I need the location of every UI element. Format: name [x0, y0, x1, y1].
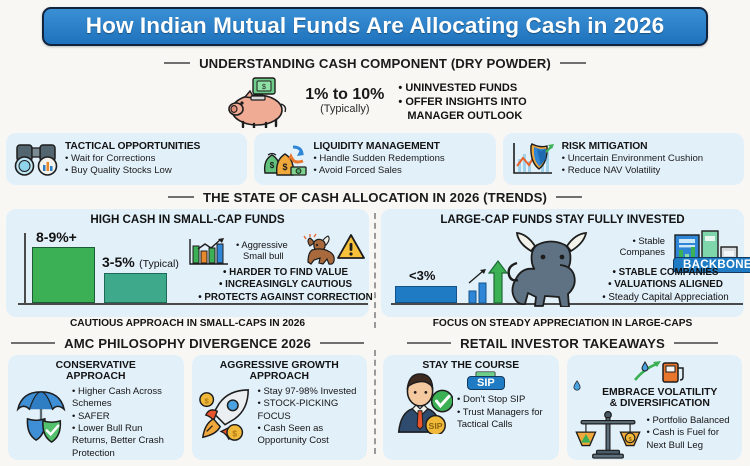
bar-high-cash	[32, 247, 95, 303]
retail-cards: STAY THE COURSE	[381, 355, 744, 460]
feature-bullets-0: Wait for Corrections Buy Quality Stocks …	[65, 153, 200, 177]
svg-text:$: $	[283, 162, 288, 172]
small-cap-bullet-0: • HARDER TO FIND VALUE	[198, 267, 373, 280]
large-cap-bullet-2: • Steady Capital Appreciation	[583, 292, 748, 305]
small-cap-bullet-2: • PROTECTS AGAINST CORRECTION	[198, 292, 373, 305]
section3-title: AMC PHILOSOPHY DIVERGENCE 2026	[64, 336, 311, 351]
feature-card-risk-mitigation[interactable]: RISK MITIGATION Uncertain Environment Cu…	[503, 133, 744, 185]
percent-range: 1% to 10%	[305, 87, 384, 104]
large-cap-note-text-0: Stable	[638, 235, 665, 246]
card-body: Higher Cash Across Schemes SAFER Lower B…	[14, 386, 178, 460]
card-bullets-aggressive: Stay 97-98% Invested STOCK-PICKING FOCUS…	[258, 386, 362, 448]
large-cap-note-line-0: • Stable	[599, 235, 665, 247]
svg-text:$: $	[270, 161, 275, 170]
feature-cards-row: TACTICAL OPPORTUNITIES Wait for Correcti…	[0, 131, 750, 185]
large-cap-bullets: • STABLE COMPANIES • VALUATIONS ALIGNED …	[583, 267, 748, 305]
card-title-line2: APPROACH	[66, 371, 125, 382]
small-cap-bullet-text-1: INCREASINGLY CAUTIOUS	[225, 279, 352, 290]
bar-chart-up-icon	[188, 237, 232, 267]
card-title-line1: AGGRESSIVE GROWTH	[220, 360, 339, 371]
feature-text: LIQUIDITY MANAGEMENT Handle Sudden Redem…	[313, 141, 444, 177]
bullet-1: Trust Managers for Tactical Calls	[457, 407, 553, 432]
card-title-line2: & DIVERSIFICATION	[610, 398, 710, 409]
section-heading-retail: RETAIL INVESTOR TAKEAWAYS	[381, 336, 744, 351]
umbrella-shield-icon	[14, 386, 68, 460]
large-cap-bullet-1: • VALUATIONS ALIGNED	[583, 279, 748, 292]
bar-typical-cash	[104, 273, 167, 303]
card-bullets-stay-course: Don’t Stop SIP Trust Managers for Tactic…	[457, 394, 553, 431]
feature-bullet-2-1: Reduce NAV Volatility	[562, 165, 703, 177]
dry-bullet-text-0: UNINVESTED FUNDS	[405, 82, 517, 94]
large-cap-caption: FOCUS ON STEADY APPRECIATION IN LARGE-CA…	[381, 317, 744, 334]
bullet-1: SAFER	[72, 411, 178, 423]
feature-bullet-0-0: Wait for Corrections	[65, 153, 200, 165]
stay-course-right: SIP Don’t Stop SIP Trust Managers for Ta…	[457, 372, 553, 434]
section1-title: UNDERSTANDING CASH COMPONENT (DRY POWDER…	[199, 56, 551, 71]
card-bullets-volatility: Portfolio Balanced Cash is Fuel for Next…	[647, 411, 737, 459]
small-cap-bullet-text-2: PROTECTS AGAINST CORRECTION	[204, 292, 372, 303]
retail-takeaways-section: RETAIL INVESTOR TAKEAWAYS STAY THE COURS…	[381, 334, 744, 460]
bar-label-typical-value: 3-5%	[102, 254, 135, 270]
sip-badge: SIP	[467, 376, 505, 390]
dry-bullet-1: • OFFER INSIGHTS INTO	[398, 95, 526, 109]
investor-person-icon: SIP	[389, 372, 453, 434]
amc-cards: CONSERVATIVE APPROACH	[6, 355, 369, 460]
bullet-2: Cash Seen as Opportunity Cost	[258, 423, 362, 448]
bullet-2: Lower Bull Run Returns, Better Crash Pro…	[72, 423, 178, 460]
large-cap-bullet-0: • STABLE COMPANIES	[583, 267, 748, 280]
dry-bullet-text-1: OFFER INSIGHTS INTO	[405, 96, 526, 108]
heading-rule-left	[164, 62, 190, 64]
bullet-0: Stay 97-98% Invested	[258, 386, 362, 398]
small-cap-bullet-text-0: HARDER TO FIND VALUE	[229, 267, 348, 278]
infographic-page: How Indian Mutual Funds Are Allocating C…	[0, 0, 750, 466]
feature-bullet-2-0: Uncertain Environment Cushion	[562, 153, 703, 165]
warning-triangle-icon	[336, 233, 366, 261]
large-cap-note-text-1: Companes	[620, 246, 665, 257]
dry-bullet-2: MANAGER OUTLOOK	[398, 109, 526, 123]
section-heading-amc: AMC PHILOSOPHY DIVERGENCE 2026	[6, 336, 369, 351]
volatility-header: EMBRACE VOLATILITY & DIVERSIFICATION	[573, 360, 737, 410]
small-cap-note-line-0: • Aggressive	[236, 239, 288, 251]
feature-bullet-0-1: Buy Quality Stocks Low	[65, 165, 200, 177]
feature-bullet-1-0: Handle Sudden Redemptions	[313, 153, 444, 165]
fuel-pump-icon	[633, 360, 687, 384]
vertical-divider	[374, 213, 376, 328]
card-conservative-approach[interactable]: CONSERVATIVE APPROACH	[8, 355, 184, 460]
bullet-1: Cash is Fuel for Next Bull Leg	[647, 427, 737, 452]
card-title-conservative: CONSERVATIVE APPROACH	[14, 360, 178, 383]
bar-label-typical-note: (Typical)	[139, 258, 179, 270]
card-body: $ Portfolio Balanced Cash is Fuel for Ne…	[573, 411, 737, 459]
svg-text:$: $	[204, 396, 209, 405]
svg-text:$: $	[232, 428, 237, 438]
card-embrace-volatility[interactable]: EMBRACE VOLATILITY & DIVERSIFICATION	[567, 355, 743, 460]
amc-philosophy-section: AMC PHILOSOPHY DIVERGENCE 2026 CONSERVAT…	[6, 334, 369, 460]
large-cap-title: LARGE-CAP FUNDS STAY FULLY INVESTED	[387, 213, 738, 226]
trends-row: HIGH CASH IN SMALL-CAP FUNDS 8-9%+ 3-5% …	[0, 209, 750, 334]
shield-chart-icon	[510, 139, 556, 179]
small-cap-title: HIGH CASH IN SMALL-CAP FUNDS	[12, 213, 363, 226]
dry-powder-bullets: • UNINVESTED FUNDS • OFFER INSIGHTS INTO…	[398, 81, 526, 123]
card-body: $ $ Stay 97-98% Invested STOCK-PICKING F…	[198, 386, 362, 448]
heading-rule-right	[320, 342, 364, 344]
card-title-aggressive: AGGRESSIVE GROWTH APPROACH	[198, 360, 362, 383]
card-title-line2: APPROACH	[250, 371, 309, 382]
page-title: How Indian Mutual Funds Are Allocating C…	[44, 14, 706, 38]
dry-powder-row: $ 1% to 10% (Typically) • UNINVESTED FUN…	[0, 75, 750, 131]
large-cap-bullet-text-1: VALUATIONS ALIGNED	[614, 279, 723, 290]
trend-panel-large-cap: LARGE-CAP FUNDS STAY FULLY INVESTED <3%	[381, 209, 744, 334]
feature-card-tactical-opportunities[interactable]: TACTICAL OPPORTUNITIES Wait for Correcti…	[6, 133, 247, 185]
piggy-bank-icon: $	[223, 76, 297, 128]
binoculars-icon	[13, 139, 59, 179]
feature-bullets-1: Handle Sudden Redemptions Avoid Forced S…	[313, 153, 444, 177]
small-cap-note-line-1: Small bull	[236, 250, 288, 262]
large-cap-bullet-text-0: STABLE COMPANIES	[619, 267, 719, 278]
bullet-1: STOCK-PICKING FOCUS	[258, 398, 362, 423]
bar-label-typical-cash: 3-5% (Typical)	[102, 254, 179, 272]
sip-badge-text: SIP	[477, 377, 495, 389]
bullet-0: Portfolio Balanced	[647, 415, 737, 427]
section-heading-trends: THE STATE OF CASH ALLOCATION IN 2026 (TR…	[0, 190, 750, 205]
feature-card-liquidity-management[interactable]: $ $ LIQUIDITY MANAGEMENT Handle Sudden R…	[254, 133, 495, 185]
bar-large-cap-cash	[395, 286, 457, 303]
feature-title-1: LIQUIDITY MANAGEMENT	[313, 141, 444, 152]
small-cap-bullets: • HARDER TO FIND VALUE • INCREASINGLY CA…	[198, 267, 373, 305]
card-bullets-conservative: Higher Cash Across Schemes SAFER Lower B…	[72, 386, 178, 460]
small-cap-chart: 8-9%+ 3-5% (Typical)	[12, 227, 363, 307]
balance-scale-icon: $	[573, 411, 643, 459]
bar-label-high-cash: 8-9%+	[36, 229, 77, 245]
feature-title-2: RISK MITIGATION	[562, 141, 703, 152]
title-area: How Indian Mutual Funds Are Allocating C…	[0, 0, 750, 50]
section-heading-dry-powder: UNDERSTANDING CASH COMPONENT (DRY POWDER…	[0, 56, 750, 71]
bullet-0: Higher Cash Across Schemes	[72, 386, 178, 411]
section2-title: THE STATE OF CASH ALLOCATION IN 2026 (TR…	[203, 190, 547, 205]
heading-rule-left	[168, 196, 194, 198]
rocket-coins-icon: $ $	[198, 386, 254, 448]
trend-panel-small-cap: HIGH CASH IN SMALL-CAP FUNDS 8-9%+ 3-5% …	[6, 209, 369, 334]
vertical-divider-bottom	[374, 350, 376, 454]
svg-text:SIP: SIP	[429, 421, 443, 431]
heading-rule-left	[11, 342, 55, 344]
feature-text: RISK MITIGATION Uncertain Environment Cu…	[562, 141, 703, 177]
svg-text:$: $	[262, 84, 266, 91]
water-drop-icon	[573, 360, 581, 391]
small-cap-note-text-0: Aggressive	[241, 239, 287, 250]
small-cap-note-text-1: Small bull	[243, 250, 284, 261]
card-title-line1: EMBRACE VOLATILITY	[602, 387, 717, 398]
heading-rule-right	[560, 62, 586, 64]
bullet-0: Don’t Stop SIP	[457, 394, 553, 406]
heading-rule-left	[407, 342, 451, 344]
card-title-line1: CONSERVATIVE	[56, 360, 136, 371]
dry-bullet-text-2: MANAGER OUTLOOK	[407, 110, 522, 122]
small-cap-bullet-1: • INCREASINGLY CAUTIOUS	[198, 279, 373, 292]
card-aggressive-growth-approach[interactable]: AGGRESSIVE GROWTH APPROACH	[192, 355, 368, 460]
feature-title-0: TACTICAL OPPORTUNITIES	[65, 141, 200, 152]
small-cap-caption: CAUTIOUS APPROACH IN SMALL-CAPS IN 2026	[6, 317, 369, 334]
large-cap-note-line-1: Companes	[599, 246, 665, 258]
heading-rule-right	[674, 342, 718, 344]
title-banner: How Indian Mutual Funds Are Allocating C…	[42, 7, 708, 46]
dry-powder-percent: 1% to 10% (Typically)	[305, 87, 384, 115]
bar-label-large-cap: <3%	[409, 268, 435, 283]
large-cap-bullet-text-2: Steady Capital Appreciation	[608, 292, 728, 303]
feature-bullets-2: Uncertain Environment Cushion Reduce NAV…	[562, 153, 703, 177]
card-title-stay-course: STAY THE COURSE	[389, 360, 553, 372]
card-title-volatility: EMBRACE VOLATILITY & DIVERSIFICATION	[584, 387, 737, 410]
heading-rule-right	[556, 196, 582, 198]
large-cap-chart: <3%	[387, 227, 738, 307]
small-bull-icon	[300, 233, 340, 267]
small-cap-note: • Aggressive Small bull	[236, 239, 288, 263]
card-stay-the-course[interactable]: STAY THE COURSE	[383, 355, 559, 460]
sip-badge-wrap: SIP	[457, 372, 553, 394]
small-cap-chart-panel: HIGH CASH IN SMALL-CAP FUNDS 8-9%+ 3-5% …	[6, 209, 369, 317]
dry-bullet-0: • UNINVESTED FUNDS	[398, 81, 526, 95]
percent-note: (Typically)	[305, 104, 384, 116]
feature-text: TACTICAL OPPORTUNITIES Wait for Correcti…	[65, 141, 200, 177]
money-bags-exchange-icon: $ $	[261, 139, 307, 179]
bottom-sections: AMC PHILOSOPHY DIVERGENCE 2026 CONSERVAT…	[0, 334, 750, 460]
feature-bullet-1-1: Avoid Forced Sales	[313, 165, 444, 177]
large-cap-chart-panel: LARGE-CAP FUNDS STAY FULLY INVESTED <3%	[381, 209, 744, 317]
card-body: SIP SIP	[389, 372, 553, 434]
large-cap-note: • Stable Companes	[599, 235, 665, 259]
section4-title: RETAIL INVESTOR TAKEAWAYS	[460, 336, 665, 351]
chart-y-axis	[24, 233, 26, 303]
